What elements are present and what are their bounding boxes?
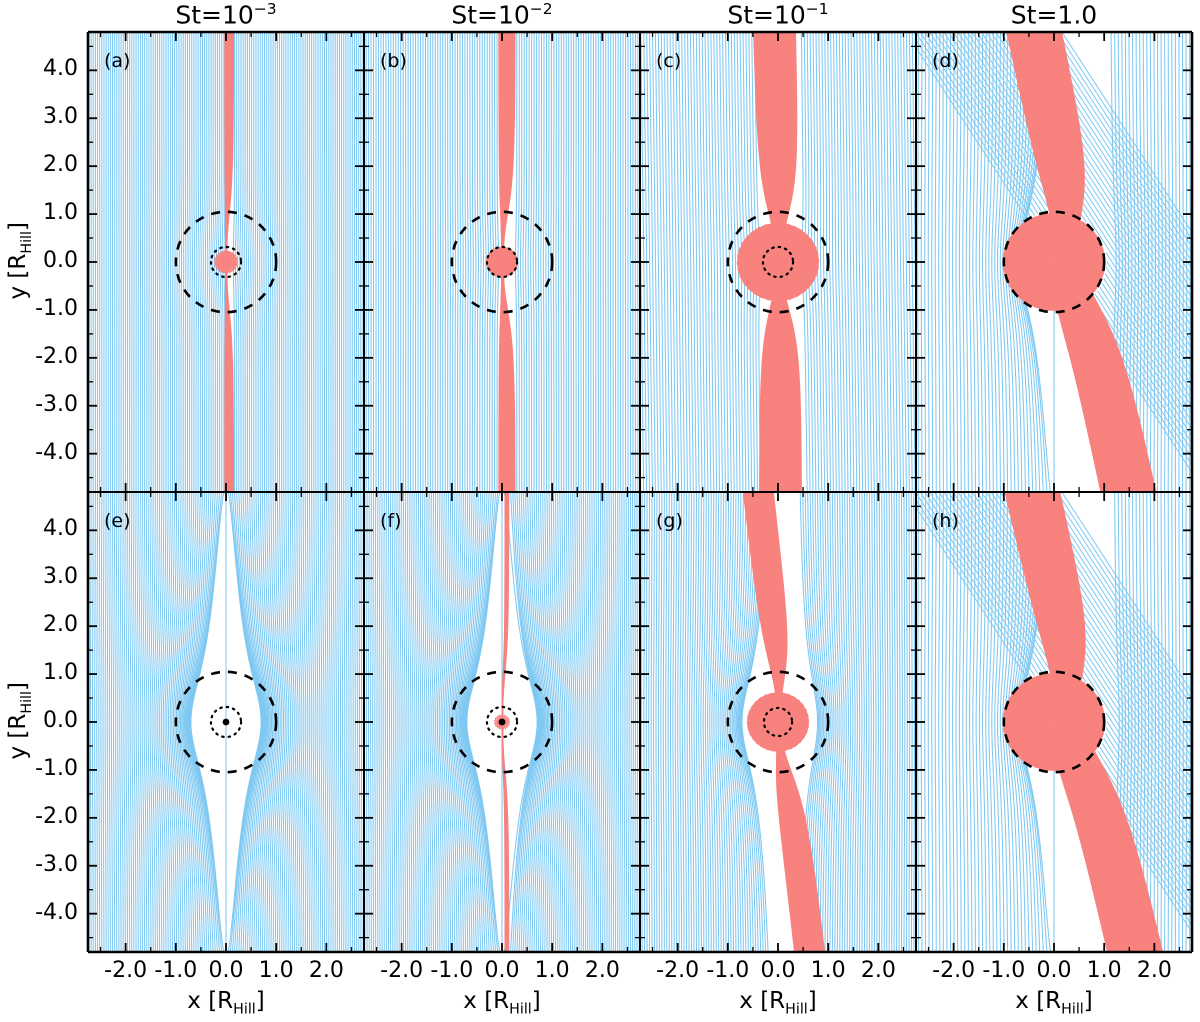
y-tick-label: 3.0 xyxy=(0,564,78,589)
y-tick-label: 1.0 xyxy=(0,660,78,685)
y-tick-label: -3.0 xyxy=(0,852,78,877)
panel-canvas-f xyxy=(364,492,640,952)
y-tick-label: -2.0 xyxy=(0,344,78,369)
y-tick-label: 4.0 xyxy=(0,56,78,81)
panel-canvas-a xyxy=(88,32,364,492)
panel-f[interactable]: (f) xyxy=(364,492,640,952)
planet-center-dot xyxy=(499,719,506,726)
panel-label-d: (d) xyxy=(932,50,959,72)
figure-root: St=10−3 St=10−2 St=10−1 St=1.0 y [RHill]… xyxy=(0,0,1200,1022)
panel-e[interactable]: (e) xyxy=(88,492,364,952)
column-title-3: St=1.0 xyxy=(916,2,1192,27)
panel-canvas-e xyxy=(88,492,364,952)
panel-b[interactable]: (b) xyxy=(364,32,640,492)
panel-label-c: (c) xyxy=(656,50,681,72)
panel-canvas-c xyxy=(640,32,916,492)
y-tick-label: 0.0 xyxy=(0,708,78,733)
y-tick-label: 1.0 xyxy=(0,200,78,225)
x-axis-label-col2: x [RHill] xyxy=(640,988,916,1018)
planet-center-dot xyxy=(223,719,230,726)
y-tick-label: 2.0 xyxy=(0,612,78,637)
y-tick-label: 2.0 xyxy=(0,152,78,177)
x-tick-label: 2.0 xyxy=(838,958,918,983)
y-tick-label: -1.0 xyxy=(0,756,78,781)
panel-h[interactable]: (h) xyxy=(916,492,1192,952)
x-axis-label-col1: x [RHill] xyxy=(364,988,640,1018)
panel-canvas-b xyxy=(364,32,640,492)
y-tick-label: 3.0 xyxy=(0,104,78,129)
panel-label-g: (g) xyxy=(656,510,683,532)
x-axis-label-col0: x [RHill] xyxy=(88,988,364,1018)
panel-label-f: (f) xyxy=(380,510,402,532)
panel-g[interactable]: (g) xyxy=(640,492,916,952)
y-tick-label: -3.0 xyxy=(0,392,78,417)
panel-canvas-h xyxy=(916,492,1192,952)
y-tick-label: -4.0 xyxy=(0,440,78,465)
y-tick-label: 0.0 xyxy=(0,248,78,273)
panel-label-h: (h) xyxy=(932,510,959,532)
red-streamlines xyxy=(486,32,517,492)
column-title-2: St=10−1 xyxy=(640,2,916,27)
x-tick-label: 2.0 xyxy=(562,958,642,983)
panel-label-b: (b) xyxy=(380,50,407,72)
column-title-0: St=10−3 xyxy=(88,2,364,27)
panel-a[interactable]: (a) xyxy=(88,32,364,492)
y-tick-label: -4.0 xyxy=(0,900,78,925)
panel-label-a: (a) xyxy=(104,50,130,72)
y-tick-label: -1.0 xyxy=(0,296,78,321)
y-tick-label: -2.0 xyxy=(0,804,78,829)
x-axis-label-col3: x [RHill] xyxy=(916,988,1192,1018)
panel-d[interactable]: (d) xyxy=(916,32,1192,492)
panel-canvas-g xyxy=(640,492,916,952)
panel-canvas-d xyxy=(916,32,1192,492)
x-tick-label: 2.0 xyxy=(1114,958,1194,983)
panel-label-e: (e) xyxy=(104,510,131,532)
y-tick-label: 4.0 xyxy=(0,516,78,541)
x-tick-label: 2.0 xyxy=(286,958,366,983)
panel-c[interactable]: (c) xyxy=(640,32,916,492)
column-title-1: St=10−2 xyxy=(364,2,640,27)
